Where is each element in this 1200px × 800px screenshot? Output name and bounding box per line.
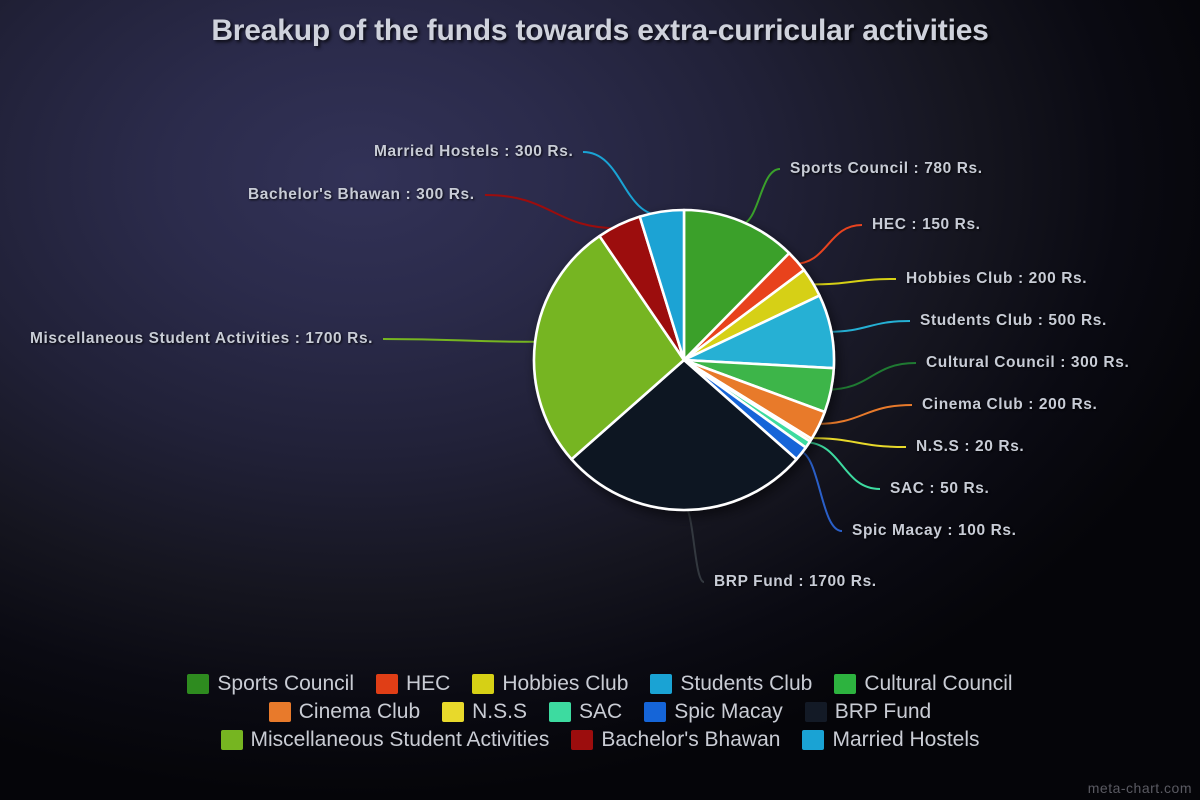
legend-swatch-icon <box>269 702 291 722</box>
leader-line <box>383 339 539 342</box>
leader-line <box>739 169 780 225</box>
leader-line <box>583 152 662 216</box>
legend-item-label: HEC <box>406 672 450 696</box>
legend-swatch-icon <box>472 674 494 694</box>
leader-line <box>485 195 621 229</box>
callout-cultural-council: Cultural Council : 300 Rs. <box>926 354 1129 372</box>
legend-item[interactable]: Bachelor's Bhawan <box>571 728 780 752</box>
leader-line <box>798 451 842 531</box>
legend-item-label: Spic Macay <box>674 700 783 724</box>
callout-students-club: Students Club : 500 Rs. <box>920 312 1107 330</box>
callout-nss: N.S.S : 20 Rs. <box>916 438 1024 456</box>
legend-item-label: Students Club <box>680 672 812 696</box>
callout-miscellaneous: Miscellaneous Student Activities : 1700 … <box>30 330 373 348</box>
legend-item[interactable]: Cinema Club <box>269 700 420 724</box>
callout-married-hostels: Married Hostels : 300 Rs. <box>374 143 573 161</box>
legend-row: Sports CouncilHECHobbies ClubStudents Cl… <box>187 672 1012 696</box>
pie-chart-page: Breakup of the funds towards extra-curri… <box>0 0 1200 800</box>
legend-item[interactable]: Miscellaneous Student Activities <box>221 728 550 752</box>
legend-swatch-icon <box>571 730 593 750</box>
legend-item[interactable]: Spic Macay <box>644 700 783 724</box>
legend-item[interactable]: HEC <box>376 672 450 696</box>
legend-swatch-icon <box>834 674 856 694</box>
callout-hobbies-club: Hobbies Club : 200 Rs. <box>906 270 1087 288</box>
legend-item[interactable]: Hobbies Club <box>472 672 628 696</box>
legend-item[interactable]: SAC <box>549 700 622 724</box>
legend-swatch-icon <box>442 702 464 722</box>
legend-item-label: BRP Fund <box>835 700 932 724</box>
legend-row: Miscellaneous Student ActivitiesBachelor… <box>221 728 980 752</box>
callout-brp-fund: BRP Fund : 1700 Rs. <box>714 573 877 591</box>
callout-cinema-club: Cinema Club : 200 Rs. <box>922 396 1097 414</box>
leader-line <box>827 363 916 390</box>
legend-swatch-icon <box>805 702 827 722</box>
pie-chart-plot: Married Hostels : 300 Rs.Bachelor's Bhaw… <box>0 0 1200 660</box>
legend-item-label: Married Hostels <box>832 728 979 752</box>
legend-item-label: Hobbies Club <box>502 672 628 696</box>
pie-slices <box>534 210 834 510</box>
callout-sac: SAC : 50 Rs. <box>890 480 989 498</box>
legend-swatch-icon <box>650 674 672 694</box>
legend: Sports CouncilHECHobbies ClubStudents Cl… <box>0 672 1200 752</box>
legend-item-label: SAC <box>579 700 622 724</box>
watermark: meta-chart.com <box>1088 780 1192 796</box>
callout-sports-council: Sports Council : 780 Rs. <box>790 160 983 178</box>
legend-swatch-icon <box>187 674 209 694</box>
leader-line <box>809 279 896 285</box>
legend-item[interactable]: Sports Council <box>187 672 354 696</box>
legend-item[interactable]: N.S.S <box>442 700 527 724</box>
legend-item-label: N.S.S <box>472 700 527 724</box>
callout-hec: HEC : 150 Rs. <box>872 216 981 234</box>
legend-swatch-icon <box>221 730 243 750</box>
legend-item[interactable]: Cultural Council <box>834 672 1012 696</box>
leader-line <box>805 442 880 489</box>
legend-item[interactable]: BRP Fund <box>805 700 932 724</box>
leader-line <box>815 405 912 424</box>
legend-row: Cinema ClubN.S.SSACSpic MacayBRP Fund <box>269 700 931 724</box>
leader-line <box>794 225 862 264</box>
legend-item-label: Cultural Council <box>864 672 1012 696</box>
legend-item-label: Miscellaneous Student Activities <box>251 728 550 752</box>
leader-line <box>827 321 910 332</box>
legend-item[interactable]: Married Hostels <box>802 728 979 752</box>
callout-bachelors-bhawan: Bachelor's Bhawan : 300 Rs. <box>248 186 475 204</box>
callout-spic-macay: Spic Macay : 100 Rs. <box>852 522 1017 540</box>
legend-swatch-icon <box>549 702 571 722</box>
legend-item-label: Sports Council <box>217 672 354 696</box>
leader-line <box>684 506 704 582</box>
legend-item-label: Cinema Club <box>299 700 420 724</box>
legend-swatch-icon <box>644 702 666 722</box>
legend-swatch-icon <box>376 674 398 694</box>
legend-item-label: Bachelor's Bhawan <box>601 728 780 752</box>
legend-item[interactable]: Students Club <box>650 672 812 696</box>
legend-swatch-icon <box>802 730 824 750</box>
